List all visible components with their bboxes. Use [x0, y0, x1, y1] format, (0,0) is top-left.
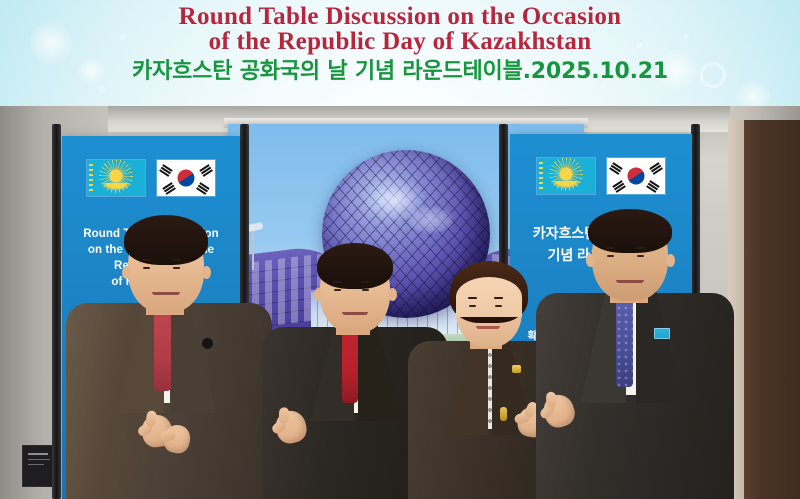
- person-4-tie: [616, 297, 633, 387]
- person-1-ear-right: [202, 266, 211, 279]
- person-1-hair: [124, 215, 208, 265]
- person-3-forehead: [456, 277, 522, 317]
- person-1-mouth: [152, 292, 180, 295]
- person-3-eye-left: [469, 305, 476, 308]
- person-3-badge: [500, 407, 507, 421]
- right-banner-flags: [510, 158, 692, 194]
- event-photograph: ASTANA KAZAKHSTAN Round Table Discussion…: [0, 106, 800, 499]
- sphere-glare-secondary: [409, 207, 453, 233]
- kazakhstan-flag-icon: [87, 160, 145, 196]
- south-korea-flag-icon: [607, 158, 665, 194]
- person-4-hair: [588, 209, 672, 253]
- banner-text-group: Round Table Discussion on the Occasion o…: [0, 0, 800, 106]
- wall-sign-plaque: [22, 445, 56, 487]
- person-3-mouth: [476, 326, 500, 329]
- person-2-ear-right: [388, 288, 397, 301]
- banner-title-english-line1: Round Table Discussion on the Occasion: [179, 3, 622, 30]
- screenshot-root: Round Table Discussion on the Occasion o…: [0, 0, 800, 499]
- person-4-ear-left: [586, 254, 595, 267]
- person-1-tie: [154, 309, 171, 391]
- person-2-ear-left: [314, 288, 323, 301]
- person-1: [66, 219, 272, 499]
- person-1-eye-right: [173, 267, 180, 270]
- person-1-lapel-microphone: [202, 338, 213, 349]
- left-banner-flags: [62, 160, 240, 196]
- banner-pole-left-outer: [52, 124, 61, 499]
- person-2-tie: [342, 327, 358, 403]
- banner-title-english: Round Table Discussion on the Occasion o…: [179, 4, 622, 54]
- caption-banner: Round Table Discussion on the Occasion o…: [0, 0, 800, 106]
- south-korea-flag-icon: [157, 160, 215, 196]
- person-4-kazakhstan-flag-pin: [654, 328, 670, 339]
- person-3-gold-lapel-pin: [512, 365, 521, 373]
- person-2-mouth: [342, 312, 368, 315]
- person-2-eye-right: [362, 289, 369, 292]
- person-4-mouth: [616, 280, 644, 283]
- person-2-hair: [317, 243, 393, 289]
- banner-title-english-line2: of the Republic Day of Kazakhstan: [179, 29, 622, 54]
- person-1-ear-left: [122, 266, 131, 279]
- person-3-eye-right: [495, 305, 502, 308]
- right-door: [744, 120, 800, 499]
- person-4-ear-right: [666, 254, 675, 267]
- person-4-eye-left: [607, 255, 614, 258]
- person-4-eye-right: [637, 255, 644, 258]
- person-1-eye-left: [143, 267, 150, 270]
- person-2-eye-left: [334, 289, 341, 292]
- banner-title-korean: 카자흐스탄 공화국의 날 기념 라운드테이블.2025.10.21: [132, 59, 668, 85]
- person-4: [536, 211, 734, 499]
- kazakhstan-flag-icon: [537, 158, 595, 194]
